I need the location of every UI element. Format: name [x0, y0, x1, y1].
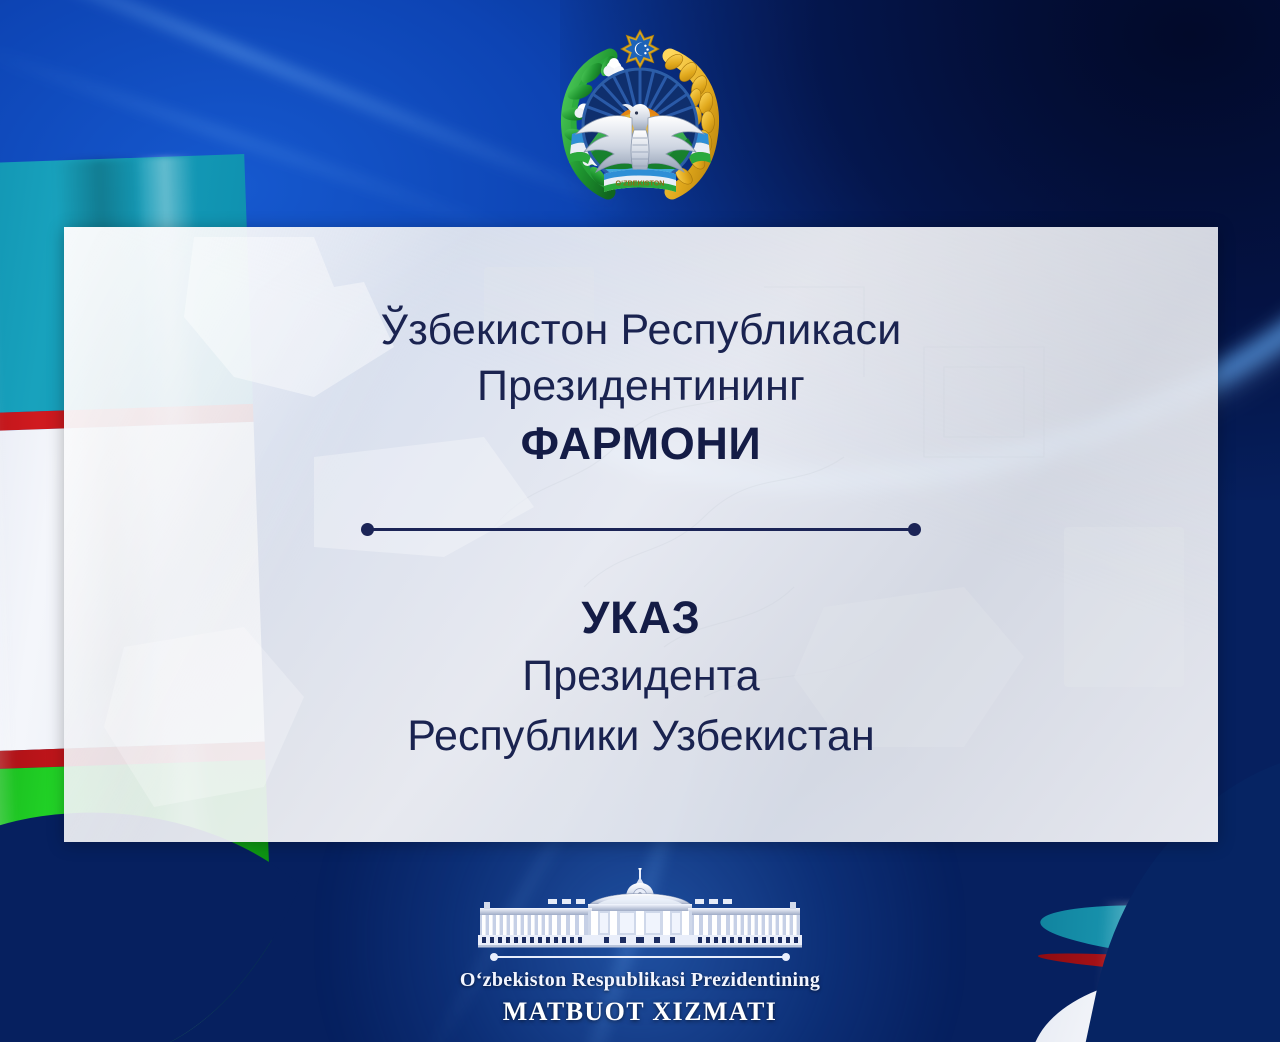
footer-divider-line — [495, 956, 785, 958]
title-uz-decree-word: ФАРМОНИ — [521, 417, 762, 472]
title-ru-line2: Президента — [522, 649, 759, 705]
uzbekistan-state-emblem-icon: O‘ZBEKISTON — [546, 26, 734, 206]
press-service-line2: MATBUOT XIZMATI — [503, 997, 778, 1027]
palace-right-colonnade — [692, 915, 800, 935]
palace-cornice-left — [480, 908, 592, 915]
divider-line — [367, 528, 915, 531]
palace-left-colonnade — [480, 915, 588, 935]
decree-card: Ўзбекистон Республикаси Президентининг Ф… — [64, 227, 1218, 842]
press-service-line1: O‘zbekiston Respublikasi Prezidentining — [460, 969, 820, 992]
oqsaroy-palace-icon — [470, 868, 810, 950]
palace-pediment — [588, 894, 692, 912]
poster-root: O‘ZBEKISTON — [0, 0, 1280, 1042]
divider-dot-right — [908, 523, 921, 536]
title-ru-line3: Республики Узбекистан — [407, 709, 874, 765]
title-uz-line2: Президентининг — [477, 359, 805, 415]
section-divider — [361, 517, 921, 543]
emblem-ribbon-text: O‘ZBEKISTON — [616, 179, 665, 188]
palace-base-arcade — [478, 935, 802, 948]
footer-divider — [490, 952, 790, 962]
press-service-footer: O‘zbekiston Respublikasi Prezidentining … — [0, 868, 1280, 1027]
title-ru-decree-word: УКАЗ — [581, 591, 700, 645]
title-uz-line1: Ўзбекистон Республикаси — [381, 303, 902, 359]
eight-pointed-star-icon — [621, 30, 659, 68]
palace-spire — [636, 868, 644, 884]
palace-cornice-right — [688, 908, 800, 915]
footer-divider-dot-right — [782, 953, 790, 961]
palace-central-colonnade — [588, 911, 692, 935]
emblem-ribbon: O‘ZBEKISTON — [604, 170, 676, 193]
